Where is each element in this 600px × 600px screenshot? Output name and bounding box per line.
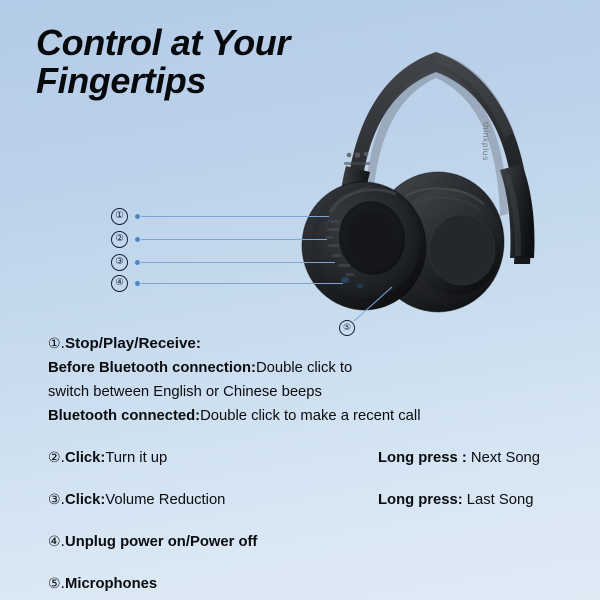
instruction-list: ①.Stop/Play/Receive: Before Bluetooth co… xyxy=(48,332,582,596)
item1-heading: Stop/Play/Receive: xyxy=(65,335,201,352)
list-item-2: ②.Click:Turn it upLong press : Next Song xyxy=(48,447,582,470)
item5-text: Microphones xyxy=(65,576,157,592)
callout-3: ③ xyxy=(111,254,335,271)
list-item-3: ③.Click:Volume ReductionLong press: Last… xyxy=(48,489,582,512)
item3-action-rest: Volume Reduction xyxy=(105,492,225,508)
callout-leader-line-2 xyxy=(141,239,327,240)
callout-dot-1 xyxy=(135,214,140,219)
item3-longpress-value: Last Song xyxy=(463,492,534,508)
callout-4: ④ xyxy=(111,275,343,292)
list-item-5: ⑤.Microphones xyxy=(48,573,582,596)
callout-leader-line-5 xyxy=(348,286,394,324)
page-title: Control at Your Fingertips xyxy=(36,24,366,100)
callout-number-1: ① xyxy=(111,208,128,225)
item2-longpress-value: Next Song xyxy=(467,450,540,466)
list-item-1: ①.Stop/Play/Receive: Before Bluetooth co… xyxy=(48,332,582,428)
item1-line4: Bluetooth connected:Double click to make… xyxy=(48,404,582,428)
callout-leader-line-3 xyxy=(141,262,335,263)
divider-2 xyxy=(48,470,582,489)
item3-marker: ③. xyxy=(48,492,65,508)
callout-leader-line-4 xyxy=(141,283,343,284)
brand-logo: thinkplus xyxy=(481,122,491,161)
item2-longpress: Long press : Next Song xyxy=(378,447,540,470)
item1-marker: ①. xyxy=(48,336,65,352)
callout-dot-4 xyxy=(135,281,140,286)
item1-line4-rest: Double click to make a recent call xyxy=(200,408,420,424)
callout-number-4: ④ xyxy=(111,275,128,292)
callout-dot-3 xyxy=(135,260,140,265)
item4-marker: ④. xyxy=(48,534,65,550)
item1-line2-bold: Before Bluetooth connection: xyxy=(48,360,256,376)
item1-line3: switch between English or Chinese beeps xyxy=(48,380,582,404)
item2-longpress-label: Long press : xyxy=(378,450,467,466)
divider-3 xyxy=(48,512,582,531)
item1-line4-bold: Bluetooth connected: xyxy=(48,408,200,424)
list-item-4: ④.Unplug power on/Power off xyxy=(48,531,582,554)
callout-number-2: ② xyxy=(111,231,128,248)
item4-text: Unplug power on/Power off xyxy=(65,534,257,550)
product-infographic: Control at Your Fingertips xyxy=(0,0,600,600)
callout-2: ② xyxy=(111,231,327,248)
item3-action-bold: Click: xyxy=(65,492,105,508)
item1-line3-text: switch between English or Chinese beeps xyxy=(48,384,322,400)
item1-line2-rest: Double click to xyxy=(256,360,352,376)
callout-number-3: ③ xyxy=(111,254,128,271)
item3-longpress-label: Long press: xyxy=(378,492,463,508)
divider-4 xyxy=(48,554,582,573)
item2-action-bold: Click: xyxy=(65,450,105,466)
item5-marker: ⑤. xyxy=(48,576,65,592)
item3-longpress: Long press: Last Song xyxy=(378,489,533,512)
item1-heading-row: ①.Stop/Play/Receive: xyxy=(48,332,582,356)
divider-1 xyxy=(48,428,582,447)
callout-dot-2 xyxy=(135,237,140,242)
callout-leader-line-1 xyxy=(141,216,329,217)
item2-marker: ②. xyxy=(48,450,65,466)
item2-action-rest: Turn it up xyxy=(105,450,167,466)
callout-1: ① xyxy=(111,208,329,225)
item1-line2: Before Bluetooth connection:Double click… xyxy=(48,356,582,380)
